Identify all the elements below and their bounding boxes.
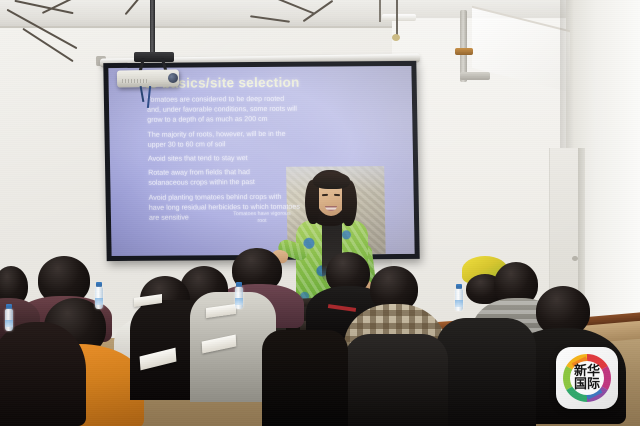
attendee-body	[344, 334, 448, 426]
projector-mount-pole	[150, 0, 155, 56]
presenter-eye-right	[334, 194, 340, 196]
presenter-eye-left	[322, 194, 328, 196]
slide-bullet-line: upper 30 to 60 cm of soil	[148, 138, 400, 150]
slide-bullet-line: grow to a depth of as much as 200 cm	[147, 113, 399, 125]
door-knob	[572, 256, 578, 261]
ceiling-cable-knot	[392, 34, 400, 41]
attendee-body	[262, 330, 348, 426]
projector-mount-plate	[134, 52, 174, 62]
bottle-label	[95, 298, 103, 305]
slide-bullet-line: Avoid sites that tend to stay wet	[148, 152, 400, 164]
attendee-body	[436, 318, 536, 426]
wall-pipe-fitting	[455, 48, 473, 55]
bottle-label	[235, 298, 243, 305]
projector-lens	[168, 73, 178, 83]
ceiling-cable-drop	[396, 0, 398, 38]
projector-vent	[122, 79, 148, 83]
bottle-label	[5, 320, 13, 327]
ceiling-cable-drop	[379, 0, 381, 22]
attendee-body	[0, 322, 86, 426]
xinhua-watermark: 新华 国际	[556, 347, 618, 409]
wall-pipe-elbow	[460, 72, 490, 80]
watermark-line-2: 国际	[574, 378, 600, 391]
watermark-text: 新华 国际	[570, 361, 604, 395]
fluorescent-lamp	[382, 14, 416, 21]
presenter-fringe	[313, 172, 350, 189]
bottle-label	[455, 300, 463, 307]
classroom-seminar-photo: to basics/site selection Tomatoes are co…	[0, 0, 640, 426]
